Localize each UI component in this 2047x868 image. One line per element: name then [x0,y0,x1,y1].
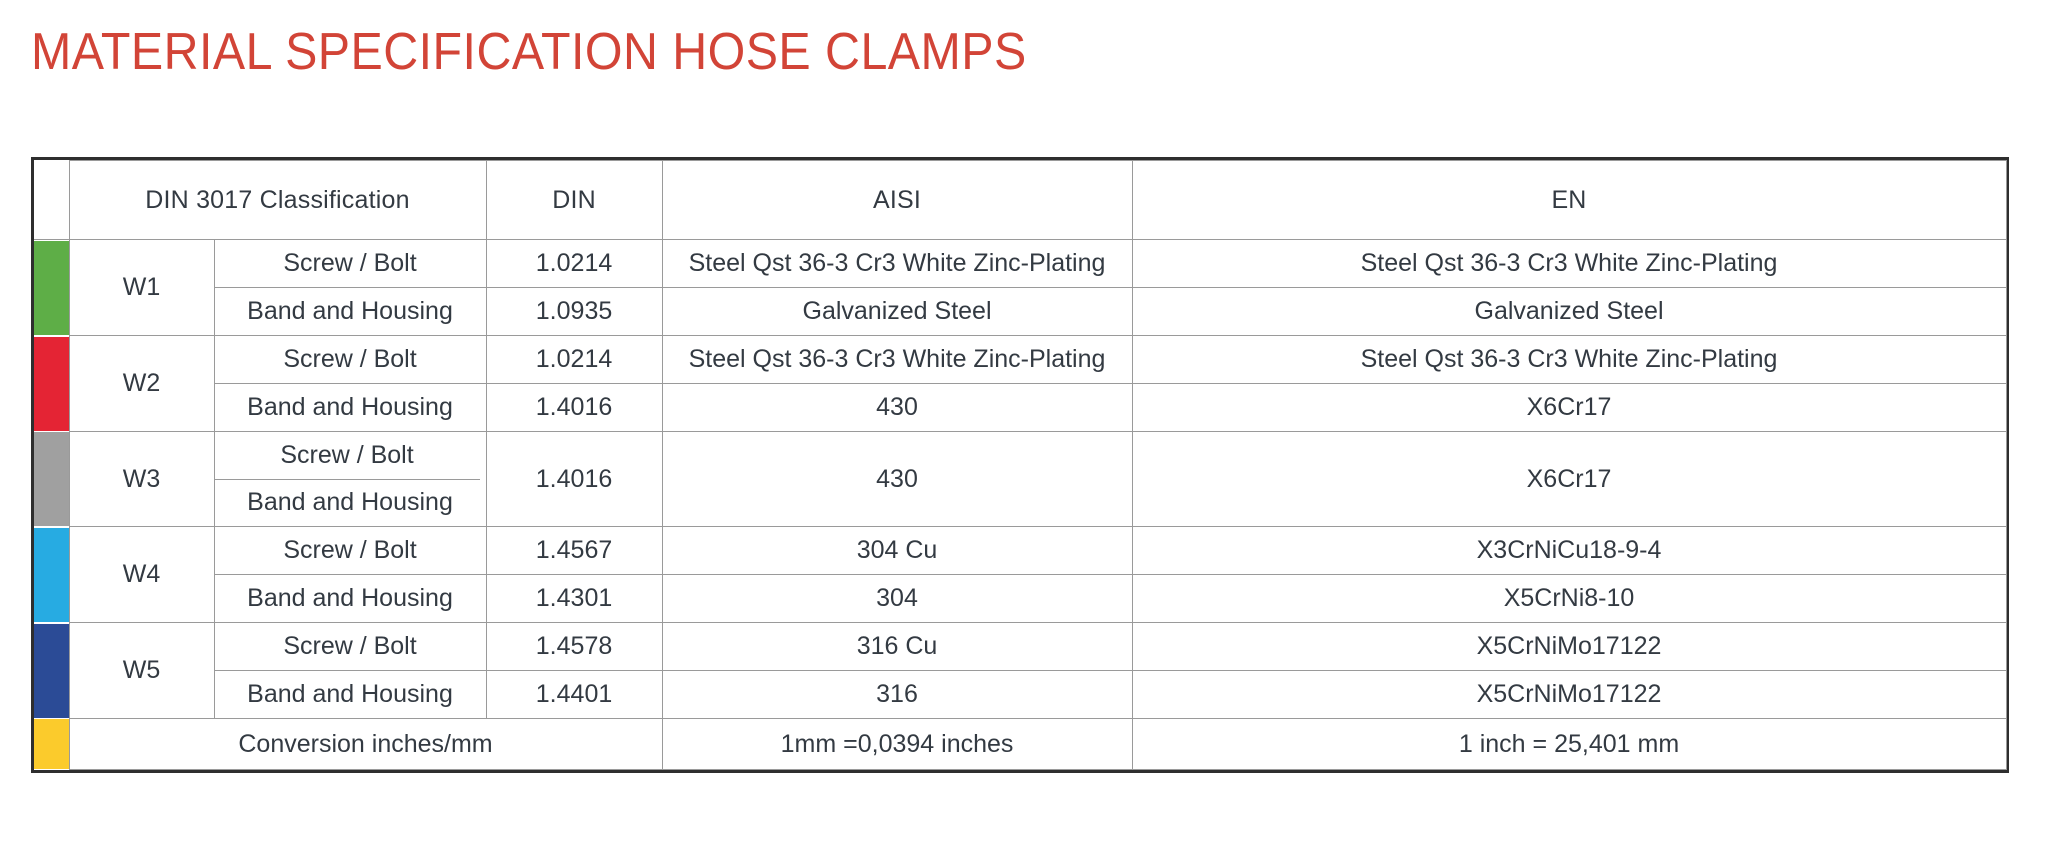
en-value-merged: X6Cr17 [1132,432,2006,527]
color-swatch-cell-w1 [34,240,69,336]
classification-code-w1: W1 [69,240,214,336]
column-header-aisi: AISI [662,161,1132,240]
en-value: X6Cr17 [1132,384,2006,432]
aisi-value-merged: 430 [662,432,1132,527]
en-value: X5CrNiMo17122 [1132,671,2006,719]
classification-code-w2: W2 [69,336,214,432]
aisi-value: 316 [662,671,1132,719]
part-label: Band and Housing [214,288,486,336]
en-value: Steel Qst 36-3 Cr3 White Zinc-Plating [1132,240,2006,288]
part-label: Screw / Bolt [215,432,480,480]
conversion-inch-to-mm: 1 inch = 25,401 mm [1132,719,2006,770]
column-header-din: DIN [486,161,662,240]
en-value: X5CrNi8-10 [1132,575,2006,623]
conversion-row: Conversion inches/mm 1mm =0,0394 inches … [34,719,2006,770]
spec-table-container: DIN 3017 Classification DIN AISI EN W1 S… [31,157,2009,773]
table-row: W1 Screw / Bolt 1.0214 Steel Qst 36-3 Cr… [34,240,2006,288]
color-swatch-conversion [34,719,69,769]
part-label: Band and Housing [214,575,486,623]
color-swatch-w4 [34,528,69,622]
din-value: 1.4578 [486,623,662,671]
color-swatch-cell-w5 [34,623,69,719]
din-value: 1.4401 [486,671,662,719]
din-value: 1.4567 [486,527,662,575]
table-row: W5 Screw / Bolt 1.4578 316 Cu X5CrNiMo17… [34,623,2006,671]
header-swatch-spacer [34,161,69,240]
aisi-value: 304 Cu [662,527,1132,575]
din-value: 1.0935 [486,288,662,336]
header-row: DIN 3017 Classification DIN AISI EN [34,161,2006,240]
part-label: Screw / Bolt [214,527,486,575]
color-swatch-w1 [34,241,69,335]
color-swatch-w3 [34,432,69,526]
color-swatch-w2 [34,337,69,431]
aisi-value: 316 Cu [662,623,1132,671]
table-row: W4 Screw / Bolt 1.4567 304 Cu X3CrNiCu18… [34,527,2006,575]
din-value: 1.4301 [486,575,662,623]
aisi-value: 304 [662,575,1132,623]
en-value: X3CrNiCu18-9-4 [1132,527,2006,575]
column-header-classification: DIN 3017 Classification [69,161,486,240]
table-row: W2 Screw / Bolt 1.0214 Steel Qst 36-3 Cr… [34,336,2006,384]
table-row: Band and Housing 1.4301 304 X5CrNi8-10 [34,575,2006,623]
color-swatch-cell-w4 [34,527,69,623]
table-row: Band and Housing 1.4401 316 X5CrNiMo1712… [34,671,2006,719]
part-label: Screw / Bolt [214,240,486,288]
din-value-merged: 1.4016 [486,432,662,527]
classification-code-w4: W4 [69,527,214,623]
aisi-value: Galvanized Steel [662,288,1132,336]
material-specification-table: DIN 3017 Classification DIN AISI EN W1 S… [34,160,2007,770]
en-value: Steel Qst 36-3 Cr3 White Zinc-Plating [1132,336,2006,384]
aisi-value: 430 [662,384,1132,432]
page-title: MATERIAL SPECIFICATION HOSE CLAMPS [31,22,1027,82]
table-header: DIN 3017 Classification DIN AISI EN [34,161,2006,240]
table-row: Band and Housing 1.0935 Galvanized Steel… [34,288,2006,336]
color-swatch-cell-w3 [34,432,69,527]
conversion-label: Conversion inches/mm [69,719,662,770]
table-body: W1 Screw / Bolt 1.0214 Steel Qst 36-3 Cr… [34,240,2006,770]
din-value: 1.4016 [486,384,662,432]
classification-code-w5: W5 [69,623,214,719]
part-label: Screw / Bolt [214,623,486,671]
column-header-en: EN [1132,161,2006,240]
part-label: Band and Housing [215,480,486,527]
classification-code-w3: W3 [69,432,214,527]
part-label: Band and Housing [214,671,486,719]
en-value: X5CrNiMo17122 [1132,623,2006,671]
en-value: Galvanized Steel [1132,288,2006,336]
color-swatch-cell-w2 [34,336,69,432]
aisi-value: Steel Qst 36-3 Cr3 White Zinc-Plating [662,336,1132,384]
conversion-mm-to-inches: 1mm =0,0394 inches [662,719,1132,770]
din-value: 1.0214 [486,336,662,384]
color-swatch-cell-conversion [34,719,69,770]
table-row: W3 Screw / Bolt Band and Housing 1.4016 … [34,432,2006,527]
din-value: 1.0214 [486,240,662,288]
part-label: Screw / Bolt [214,336,486,384]
material-specification-page: MATERIAL SPECIFICATION HOSE CLAMPS DIN 3… [0,0,2047,868]
part-label: Band and Housing [214,384,486,432]
table-row: Band and Housing 1.4016 430 X6Cr17 [34,384,2006,432]
part-label-group-w3: Screw / Bolt Band and Housing [214,432,486,527]
aisi-value: Steel Qst 36-3 Cr3 White Zinc-Plating [662,240,1132,288]
color-swatch-w5 [34,624,69,718]
